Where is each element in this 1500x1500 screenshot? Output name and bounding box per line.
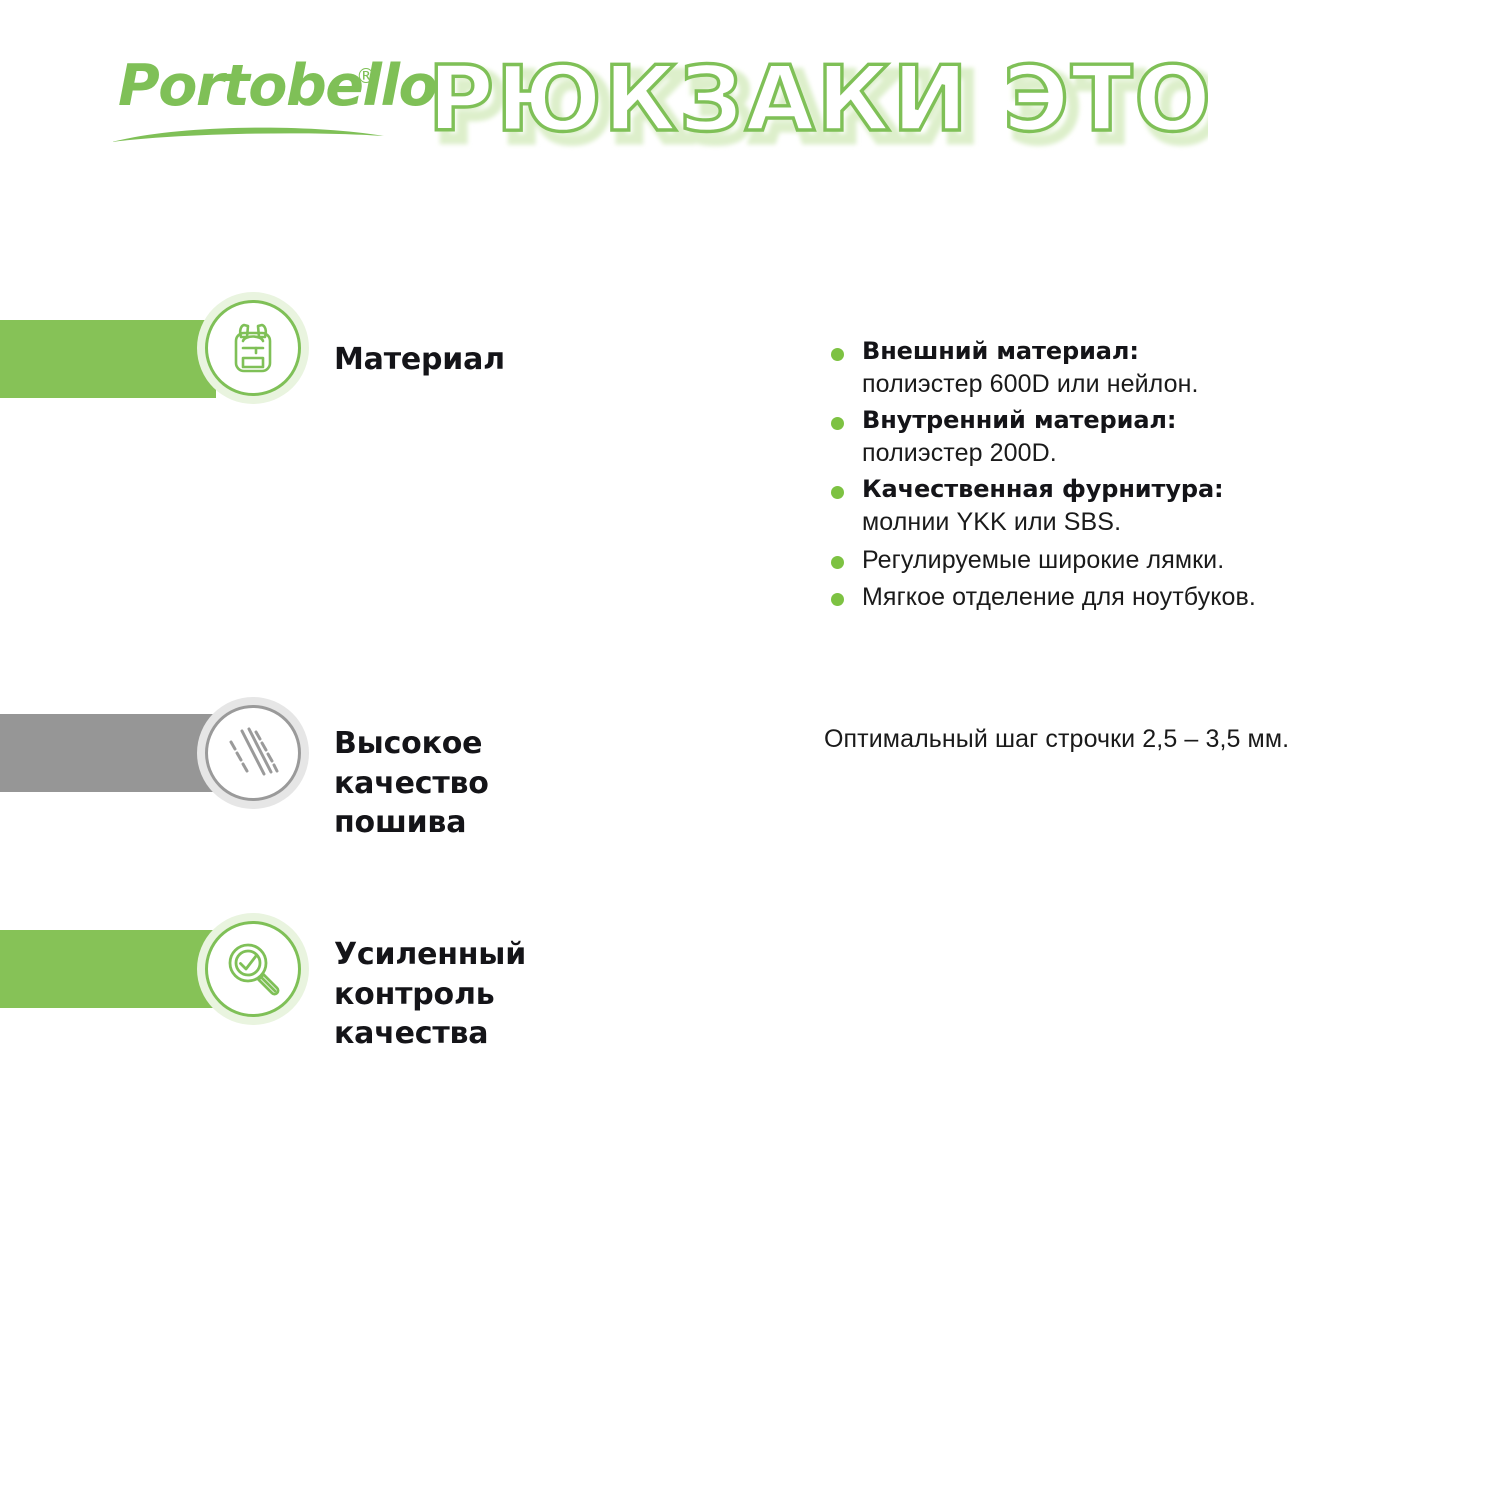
- bullet-dot-icon: [831, 556, 844, 569]
- list-item: Внешний материал: полиэстер 600D или ней…: [824, 336, 1444, 401]
- registered-trademark-icon: ®: [356, 64, 376, 88]
- bullet-value: молнии YKK или SBS.: [862, 506, 1444, 540]
- page-title-outline: РЮКЗАКИ ЭТО:: [428, 48, 1208, 152]
- bullet-dot-icon: [831, 348, 844, 361]
- bullet-label: Внутренний материал:: [862, 405, 1444, 437]
- section-quality-control-title: Усиленный контроль качества: [334, 935, 526, 1054]
- bullet-value: полиэстер 200D.: [862, 437, 1444, 471]
- magnifier-check-icon: [205, 921, 301, 1017]
- section-quality-control-bar: [0, 930, 216, 1008]
- bullet-label: Качественная фурнитура:: [862, 474, 1444, 506]
- stitching-icon: [205, 705, 301, 801]
- section-material-title: Материал: [334, 340, 505, 380]
- list-item: Регулируемые широкие лямки.: [824, 544, 1444, 578]
- bullet-value: полиэстер 600D или нейлон.: [862, 368, 1444, 402]
- backpack-icon: [205, 300, 301, 396]
- sewing-quality-details: Оптимальный шаг строчки 2,5 – 3,5 мм.: [824, 723, 1464, 757]
- bullet-dot-icon: [831, 417, 844, 430]
- material-details: Внешний материал: полиэстер 600D или ней…: [824, 336, 1444, 619]
- section-sewing-quality-title: Высокое качество пошива: [334, 724, 489, 843]
- section-sewing-quality-bar: [0, 714, 216, 792]
- section-material-bar: [0, 320, 216, 398]
- list-item: Качественная фурнитура: молнии YKK или S…: [824, 474, 1444, 539]
- logo-swoosh-icon: [112, 122, 390, 144]
- bullet-dot-icon: [831, 486, 844, 499]
- list-item: Мягкое отделение для ноутбуков.: [824, 581, 1444, 615]
- bullet-dot-icon: [831, 593, 844, 606]
- page-header: Portobello ® РЮКЗАКИ ЭТО: РЮКЗАКИ ЭТО:: [0, 0, 1500, 200]
- sewing-quality-note: Оптимальный шаг строчки 2,5 – 3,5 мм.: [824, 723, 1464, 757]
- page-title: РЮКЗАКИ ЭТО: РЮКЗАКИ ЭТО:: [428, 48, 1208, 158]
- brand-logo: Portobello ®: [118, 58, 398, 148]
- list-item: Внутренний материал: полиэстер 200D.: [824, 405, 1444, 470]
- bullet-label: Внешний материал:: [862, 336, 1444, 368]
- bullet-value: Мягкое отделение для ноутбуков.: [862, 581, 1444, 615]
- brand-logo-text: Portobello: [118, 58, 436, 115]
- bullet-value: Регулируемые широкие лямки.: [862, 544, 1444, 578]
- material-bullet-list: Внешний материал: полиэстер 600D или ней…: [824, 336, 1444, 615]
